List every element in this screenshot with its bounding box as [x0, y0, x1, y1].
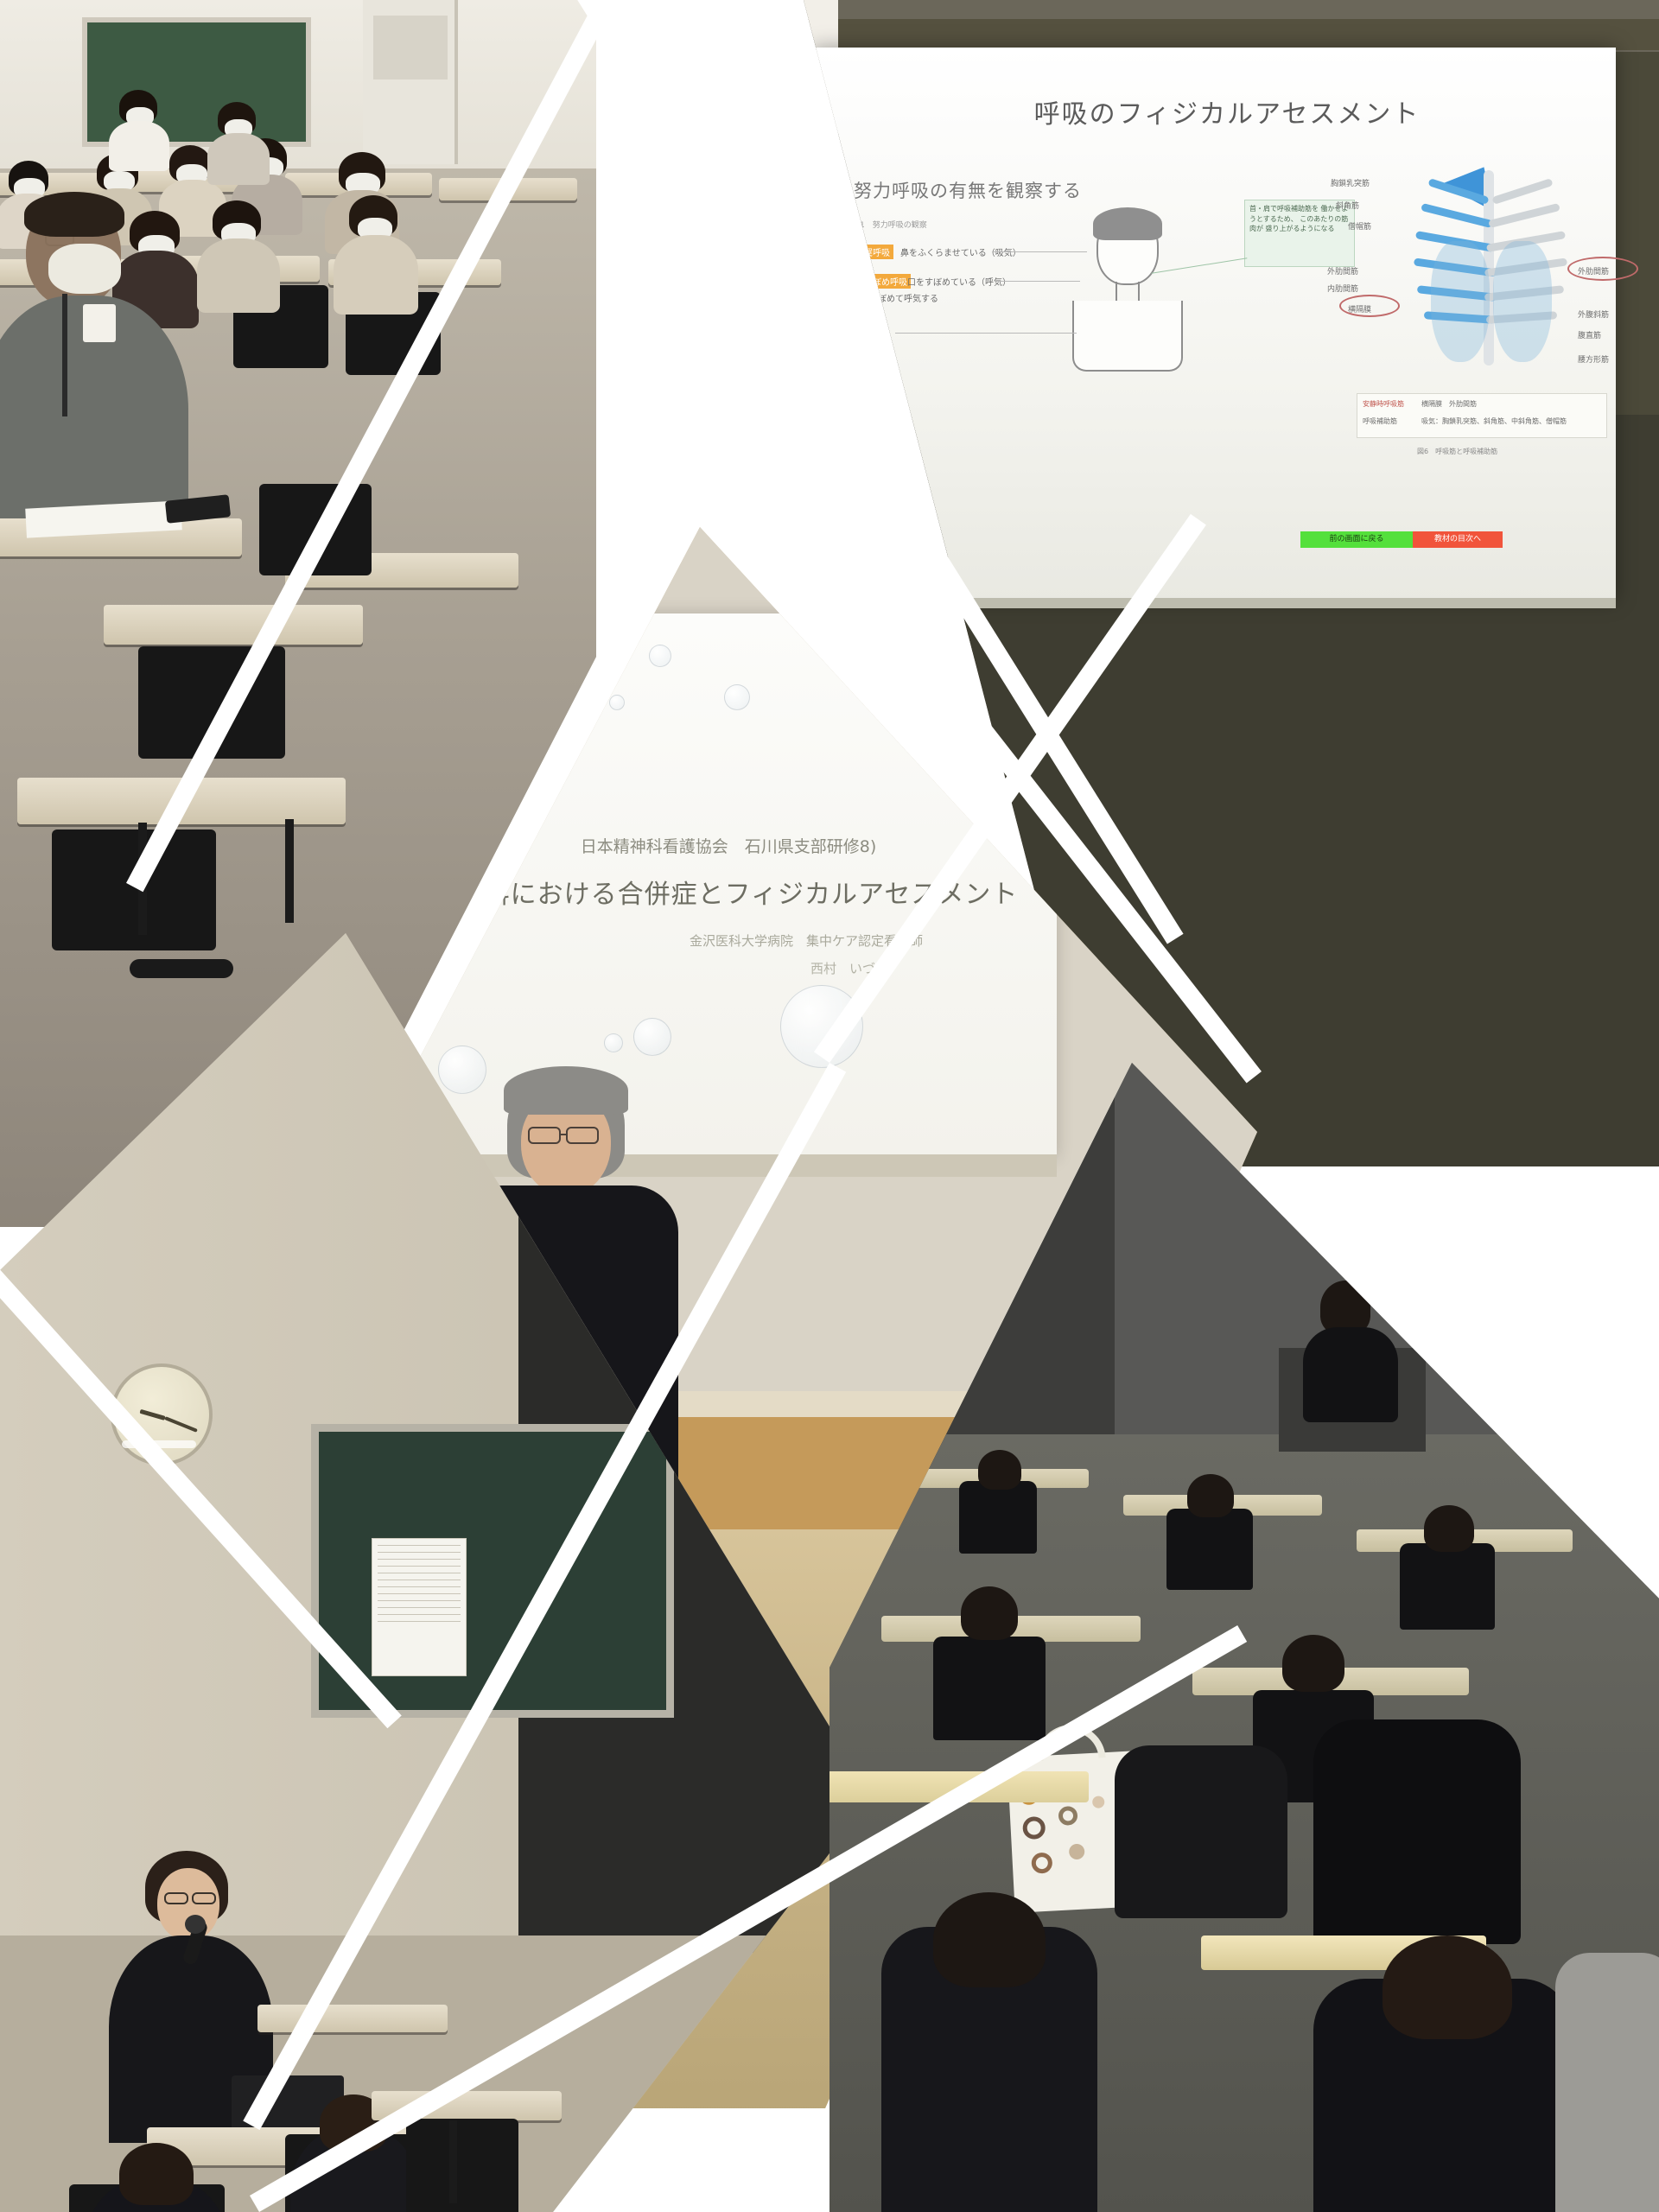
- anatomy-label-left-3: 外肋間筋: [1327, 265, 1358, 276]
- door-window: [373, 16, 448, 79]
- slide-title: 呼吸のフィジカルアセスメント: [925, 92, 1529, 130]
- slide-presenter: 西村 いづみ: [659, 959, 1039, 977]
- anatomy-label-right-3: 腰方形筋: [1578, 353, 1609, 365]
- slide-source-note: 図1 努力呼吸の観察: [852, 219, 927, 230]
- callout-tag-0: 鼻翼呼吸: [852, 245, 893, 259]
- anatomy-label-left-2: 僧帽筋: [1348, 220, 1371, 232]
- ceiling-beam: [553, 19, 1659, 50]
- callout-text-3: 陥没呼吸: [852, 327, 887, 340]
- speaker-body: [1303, 1327, 1398, 1422]
- highlight-ellipse-left: [1339, 295, 1400, 317]
- callout-text-1: 口をすぼめている（呼気）: [907, 275, 1011, 288]
- speaker-head: [1320, 1281, 1370, 1334]
- toc-button[interactable]: 教材の目次へ: [1413, 531, 1503, 548]
- anatomy-label-left-4: 内肋間筋: [1327, 283, 1358, 294]
- anatomy-label-left-0: 胸鎖乳突筋: [1331, 177, 1370, 188]
- glasses-icon: [528, 1127, 561, 1144]
- projection-screen: 呼吸のフィジカルアセスメント 努力呼吸の有無を観察する 図1 努力呼吸の観察 鼻…: [812, 48, 1616, 601]
- table-row-1-label: 呼吸補助筋: [1363, 416, 1397, 426]
- photo-collage: 呼吸のフィジカルアセスメント 努力呼吸の有無を観察する 図1 努力呼吸の観察 鼻…: [0, 0, 1659, 2212]
- ribcage-diagram: [1382, 158, 1599, 374]
- figure-caption: 図6 呼吸筋と呼吸補助筋: [1417, 447, 1497, 456]
- prev-screen-button[interactable]: 前の画面に戻る: [1300, 531, 1413, 548]
- anatomy-label-right-1: 外腹斜筋: [1578, 308, 1609, 320]
- callout-tag-1: 口すぼめ呼吸: [852, 274, 911, 289]
- torso-figure: [1058, 207, 1197, 372]
- anatomy-label-left-1: 斜角筋: [1336, 200, 1359, 211]
- muscle-table: 安静時呼吸筋 横隔膜 外肋間筋 呼吸補助筋 吸気：胸鎖乳突筋、斜角筋、中斜角筋、…: [1357, 393, 1607, 438]
- table-row-1-value: 吸気：胸鎖乳突筋、斜角筋、中斜角筋、僧帽筋: [1421, 416, 1567, 426]
- slide-eyebrow: 日本精神科看護協会 石川県支部研修8): [504, 834, 953, 857]
- anatomy-label-right-2: 腹直筋: [1578, 329, 1601, 340]
- highlight-ellipse-right: [1567, 257, 1638, 281]
- table-row-0-label: 安静時呼吸筋: [1363, 399, 1404, 409]
- callout-text-2: 口をすぼめて呼気する: [852, 291, 938, 304]
- wall-clock: [1434, 1175, 1476, 1217]
- slide-affiliation: 金沢医科大学病院 集中ケア認定看護師: [573, 931, 1039, 950]
- slide-subtitle: 努力呼吸の有無を観察する: [854, 177, 1082, 203]
- posted-sheet: [372, 1538, 467, 1676]
- table-row-0-value: 横隔膜 外肋間筋: [1421, 399, 1477, 409]
- screen-frame: [1581, 1201, 1659, 1331]
